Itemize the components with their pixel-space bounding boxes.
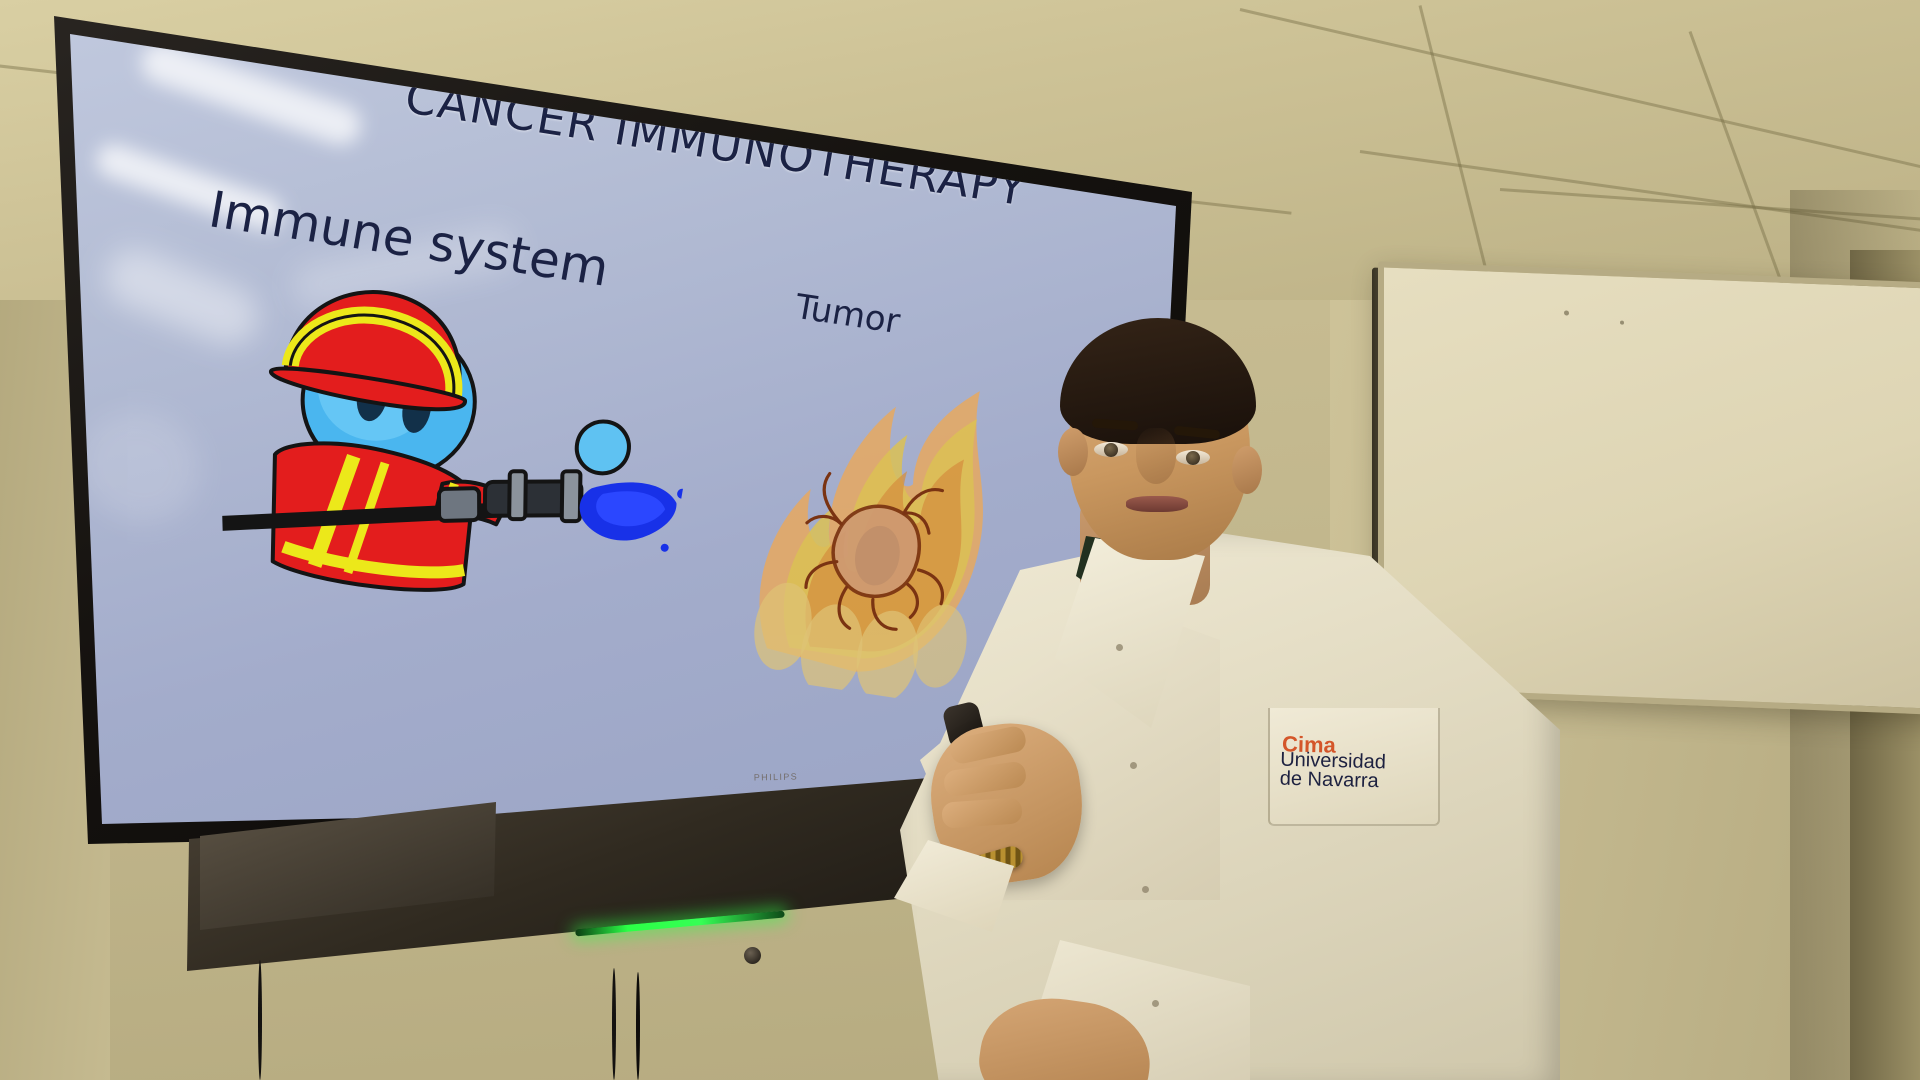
iris-right xyxy=(1186,451,1200,465)
logo-line-navarra: de Navarra xyxy=(1280,770,1386,792)
nozzle-barrel xyxy=(485,481,582,516)
firefighter-coat xyxy=(255,434,484,600)
power-cable-3 xyxy=(258,960,262,1080)
cell-eye-left xyxy=(353,369,391,423)
nozzle-blue-knob xyxy=(573,418,633,477)
eye-left xyxy=(1094,442,1128,457)
water-drop-1 xyxy=(676,488,688,499)
hose-line xyxy=(222,468,506,565)
nozzle-ring-2 xyxy=(562,471,581,521)
water-drop-2 xyxy=(660,543,669,552)
tv-brand-label: PHILIPS xyxy=(740,771,812,784)
iris-left xyxy=(1104,443,1118,457)
helmet-yellow-stripe xyxy=(289,304,465,396)
coat-button-1 xyxy=(1116,644,1123,651)
ear-left xyxy=(1058,428,1088,476)
coat-sleeve xyxy=(435,478,511,528)
hose-grip xyxy=(439,488,479,521)
water-spray xyxy=(575,475,680,549)
mouth xyxy=(1126,496,1188,512)
power-cable-1 xyxy=(612,968,616,1080)
screen-glare-2 xyxy=(92,139,287,235)
cell-eye-right xyxy=(399,383,435,434)
eye-right xyxy=(1176,450,1210,465)
coat-button-3 xyxy=(1142,886,1149,893)
coat-stripe-2 xyxy=(348,460,385,575)
helmet-brim xyxy=(268,363,466,416)
coat-stripe-1 xyxy=(315,453,354,568)
coat-hem-stripe xyxy=(282,543,464,581)
coat-button-4 xyxy=(1152,1000,1159,1007)
power-cable-2 xyxy=(636,972,640,1080)
logo-university-text: Universidad de Navarra xyxy=(1280,751,1387,792)
ear-right xyxy=(1232,446,1262,494)
immune-cell-body xyxy=(290,311,487,490)
presentation-scene: CANCER IMMUNOTHERAPY Immune system Tumor xyxy=(0,0,1920,1080)
finger-3 xyxy=(941,797,1023,829)
screen-glare-3 xyxy=(97,240,267,354)
nose xyxy=(1136,428,1176,484)
presenter: Cima Universidad de Navarra xyxy=(880,300,1720,1080)
coat-button-2 xyxy=(1130,762,1137,769)
screen-glare-4 xyxy=(288,221,523,314)
nozzle-ring-1 xyxy=(509,471,526,519)
hair xyxy=(1060,318,1256,444)
firefighter-immune-cell-graphic xyxy=(188,266,709,662)
soundbar-ir-sensor xyxy=(744,947,761,964)
